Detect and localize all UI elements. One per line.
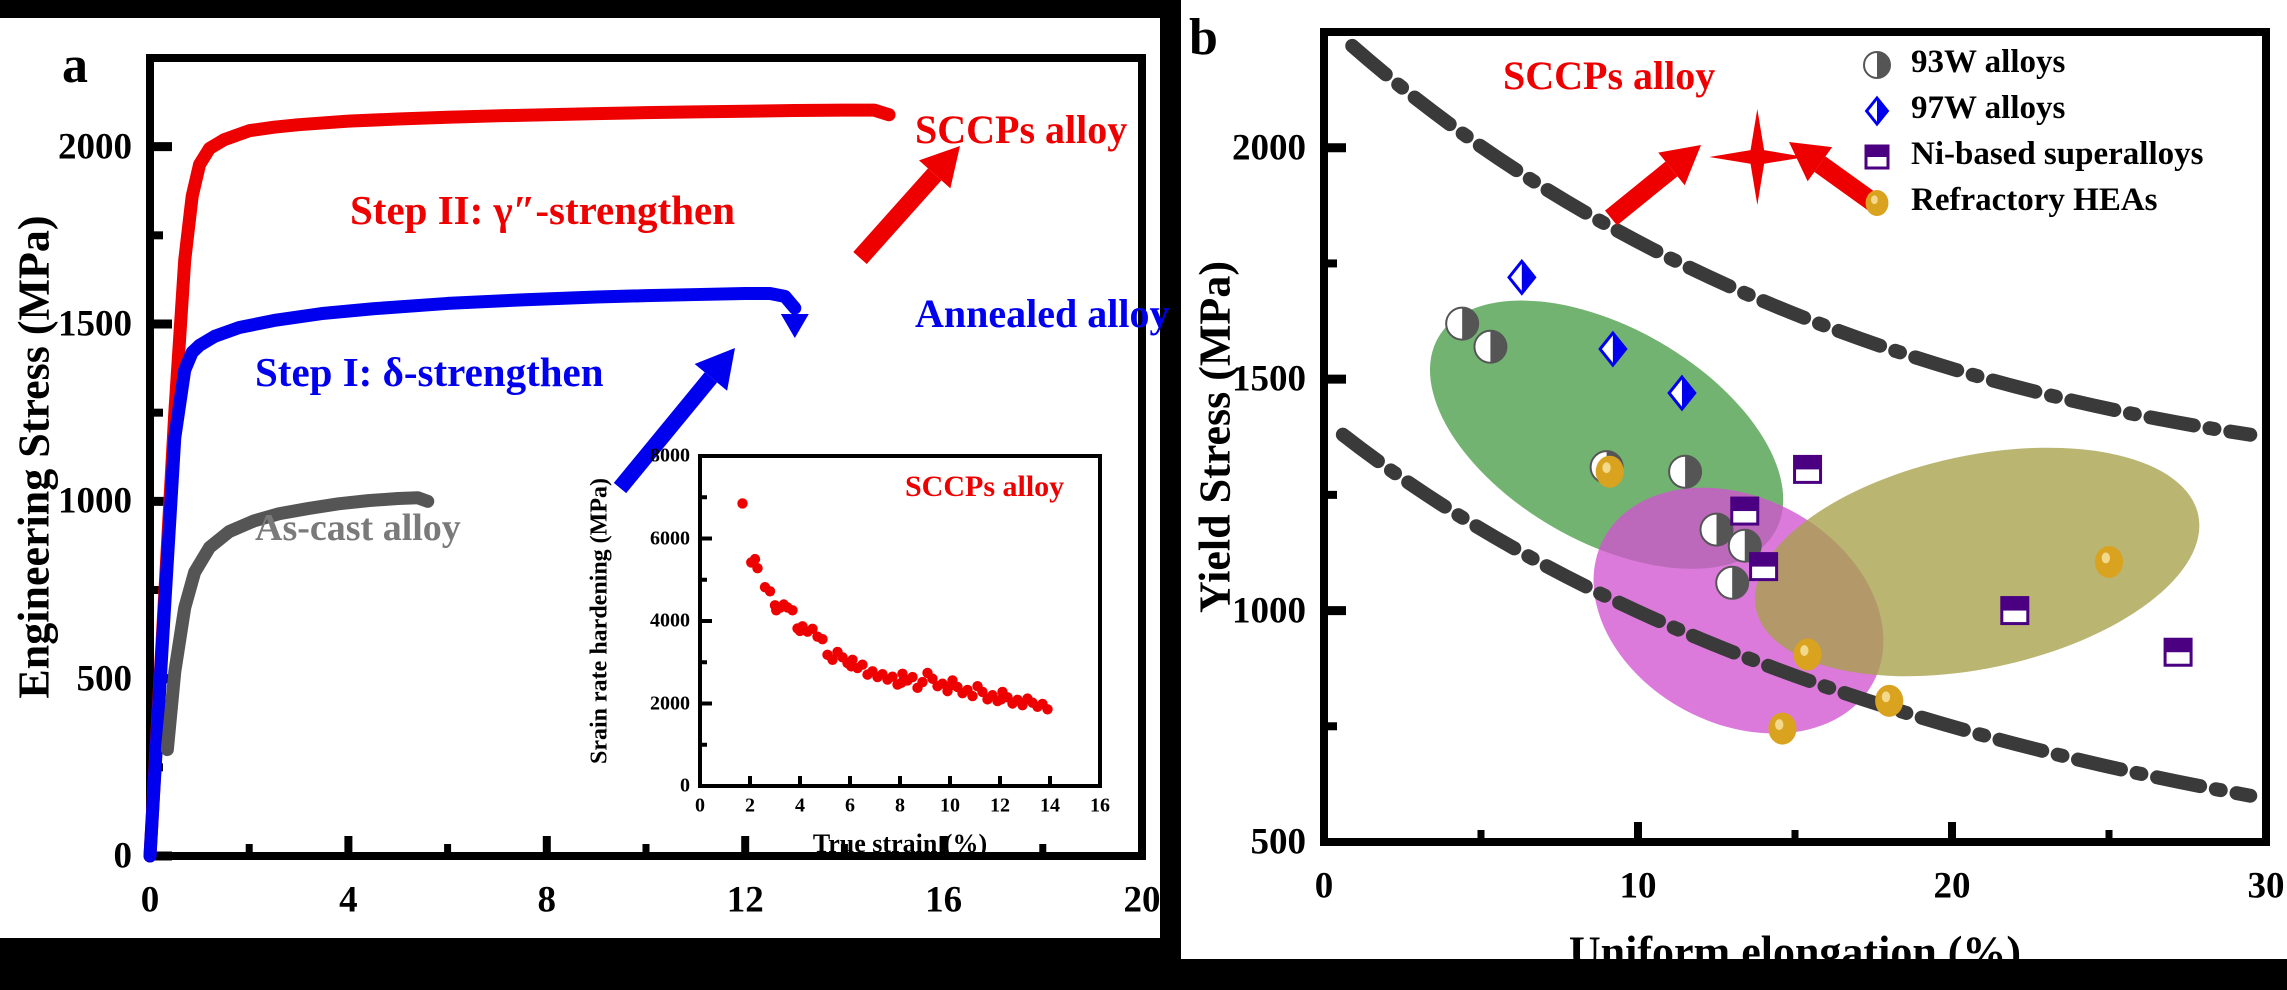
panel-a-inset-frame bbox=[700, 456, 1100, 786]
legend-marker-filled-circle bbox=[1857, 180, 1897, 226]
panel-a-as-cast-alloy-label: As-cast alloy bbox=[255, 506, 461, 550]
panel-a-ytick-label: 0 bbox=[0, 835, 132, 878]
panel-a-xtick-label: 20 bbox=[1124, 879, 1161, 922]
legend-label: Ni-based superalloys bbox=[1911, 136, 2203, 173]
panel-b-marker-refractory-heas bbox=[1596, 456, 1624, 488]
panel-a-xtick-label: 8 bbox=[538, 879, 557, 922]
inset-xtick-label: 0 bbox=[695, 795, 705, 818]
inset-ytick-label: 2000 bbox=[616, 692, 690, 715]
inset-xaxis-label: True strain (%) bbox=[813, 829, 987, 859]
panel-a-letter: a bbox=[62, 36, 88, 95]
panel-b-marker-ni-based-superalloys bbox=[2165, 639, 2191, 665]
legend-marker-glyph bbox=[1866, 190, 1889, 216]
panel-b-marker-ni-based-superalloys bbox=[1732, 498, 1758, 524]
panel-b-marker-93w-alloys bbox=[1701, 514, 1733, 546]
panel-a-xtick-label: 0 bbox=[141, 879, 160, 922]
panel-b-xtick-label: 10 bbox=[1620, 865, 1657, 908]
panel-a-yaxis-label: Engineering Stress (MPa) bbox=[9, 215, 60, 698]
inset-data-point bbox=[946, 680, 956, 690]
inset-xtick-label: 4 bbox=[795, 795, 805, 818]
legend-item[interactable]: Ni-based superalloys bbox=[1857, 134, 2277, 180]
panel-b-sccps-label: SCCPs alloy bbox=[1503, 52, 1715, 99]
inset-ytick-label: 0 bbox=[616, 775, 690, 798]
panel-a: 0481216200500100015002000aEngineering St… bbox=[0, 18, 1160, 938]
inset-xtick-label: 12 bbox=[990, 795, 1010, 818]
panel-b-marker-refractory-heas bbox=[2095, 546, 2123, 578]
legend-marker-glyph bbox=[1864, 52, 1890, 78]
panel-b-marker-93w-alloys bbox=[1474, 331, 1506, 363]
legend-item[interactable]: Refractory HEAs bbox=[1857, 180, 2277, 226]
panel-b-letter: b bbox=[1189, 8, 1218, 67]
inset-ytick-label: 8000 bbox=[616, 445, 690, 468]
inset-data-point bbox=[795, 626, 805, 636]
panel-b-marker-93w-alloys bbox=[1716, 567, 1748, 599]
panel-a-xtick-label: 4 bbox=[339, 879, 358, 922]
panel-b: 0102030500100015002000bUniform elongatio… bbox=[1181, 0, 2287, 959]
inset-ytick-label: 4000 bbox=[616, 610, 690, 633]
panel-b-marker-93w-alloys bbox=[1669, 456, 1701, 488]
inset-data-point bbox=[737, 498, 747, 508]
panel-a-sccps-alloy-label: SCCPs alloy bbox=[915, 106, 1127, 153]
inset-data-point bbox=[765, 586, 775, 596]
inset-data-point bbox=[967, 691, 977, 701]
legend-label: 97W alloys bbox=[1911, 90, 2065, 127]
inset-data-point bbox=[896, 678, 906, 688]
panel-a-xaxis-label: Engineering Strain (%) bbox=[425, 939, 867, 990]
panel-b-marker-refractory-heas bbox=[1875, 685, 1903, 717]
inset-data-point bbox=[787, 605, 797, 615]
inset-data-point bbox=[996, 694, 1006, 704]
inset-data-point bbox=[907, 672, 917, 682]
figure-root: 0481216200500100015002000aEngineering St… bbox=[0, 0, 2287, 959]
inset-xtick-label: 2 bbox=[745, 795, 755, 818]
inset-yaxis-label: Srain rate hardening (MPa) bbox=[587, 478, 614, 764]
panel-b-xtick-label: 20 bbox=[1934, 865, 1971, 908]
panel-b-marker-refractory-heas bbox=[1768, 713, 1796, 745]
panel-a-step1-label: Step I: δ-strengthen bbox=[255, 348, 604, 396]
panel-a-xtick-label: 12 bbox=[727, 879, 764, 922]
legend-label: 93W alloys bbox=[1911, 44, 2065, 81]
panel-b-marker-refractory-heas bbox=[1793, 639, 1821, 671]
panel-a-xtick-label: 16 bbox=[925, 879, 962, 922]
panel-a-step2-label: Step II: γ″-strengthen bbox=[350, 186, 735, 234]
panel-a-annealed-alloy-label: Annealed alloy bbox=[915, 290, 1169, 337]
legend-label: Refractory HEAs bbox=[1911, 182, 2158, 219]
inset-ytick-label: 6000 bbox=[616, 527, 690, 550]
inset-data-point bbox=[846, 661, 856, 671]
inset-data-point bbox=[817, 634, 827, 644]
legend-marker-half-filled-square bbox=[1857, 134, 1897, 180]
panel-b-xtick-label: 30 bbox=[2248, 865, 2285, 908]
inset-data-point bbox=[1042, 704, 1052, 714]
inset-xtick-label: 16 bbox=[1090, 795, 1110, 818]
inset-title: SCCPs alloy bbox=[905, 470, 1064, 504]
legend-marker-glyph bbox=[1866, 146, 1888, 168]
panel-b-legend: 93W alloys97W alloysNi-based superalloys… bbox=[1857, 42, 2277, 226]
legend-item[interactable]: 97W alloys bbox=[1857, 88, 2277, 134]
panel-b-marker-93w-alloys bbox=[1446, 308, 1478, 340]
panel-b-ytick-label: 2000 bbox=[1181, 126, 1306, 169]
inset-data-point bbox=[771, 605, 781, 615]
inset-xtick-label: 14 bbox=[1040, 795, 1060, 818]
inset-data-point bbox=[746, 557, 756, 567]
inset-xtick-label: 8 bbox=[895, 795, 905, 818]
inset-xtick-label: 6 bbox=[845, 795, 855, 818]
legend-marker-glyph bbox=[1867, 98, 1888, 124]
panel-b-ytick-label: 500 bbox=[1181, 821, 1306, 864]
legend-item[interactable]: 93W alloys bbox=[1857, 42, 2277, 88]
inset-xtick-label: 10 bbox=[940, 795, 960, 818]
legend-marker-half-filled-circle bbox=[1857, 42, 1897, 88]
panel-b-yaxis-label: Yield Stress (MPa) bbox=[1190, 261, 1241, 613]
inset-data-point bbox=[857, 660, 867, 670]
inset-data-point bbox=[917, 677, 927, 687]
panel-a-ytick-label: 2000 bbox=[0, 125, 132, 168]
legend-marker-half-filled-diamond bbox=[1857, 88, 1897, 134]
panel-b-marker-ni-based-superalloys bbox=[1795, 456, 1821, 482]
panel-b-marker-ni-based-superalloys bbox=[1751, 554, 1777, 580]
panel-b-xaxis-label: Uniform elongation (%) bbox=[1569, 927, 2021, 978]
panel-b-marker-ni-based-superalloys bbox=[2002, 598, 2028, 624]
panel-b-xtick-label: 0 bbox=[1315, 865, 1334, 908]
